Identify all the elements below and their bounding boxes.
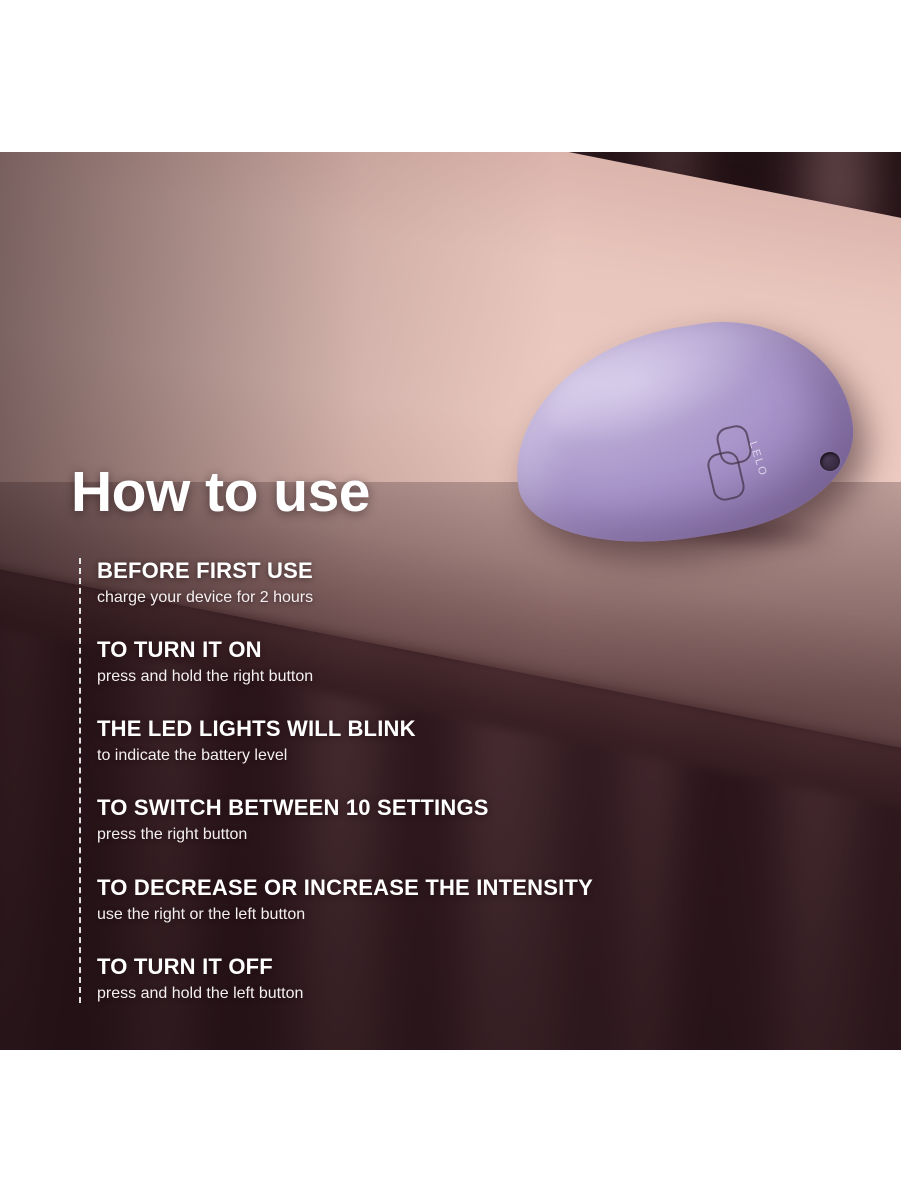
list-item: TO TURN IT OFF press and hold the left b… [97, 954, 857, 1003]
page-title: How to use [71, 464, 370, 521]
step-description: charge your device for 2 hours [97, 588, 857, 607]
product-device: LELO [504, 322, 860, 552]
list-item: THE LED LIGHTS WILL BLINK to indicate th… [97, 716, 857, 765]
list-item: TO SWITCH BETWEEN 10 SETTINGS press the … [97, 795, 857, 844]
step-title: TO DECREASE OR INCREASE THE INTENSITY [97, 875, 857, 901]
step-title: TO TURN IT OFF [97, 954, 857, 980]
step-description: press and hold the left button [97, 984, 857, 1003]
page-root: LELO How to use BEFORE FIRST USE charge … [0, 0, 901, 1200]
list-item: TO DECREASE OR INCREASE THE INTENSITY us… [97, 875, 857, 924]
step-description: use the right or the left button [97, 905, 857, 924]
step-description: press and hold the right button [97, 667, 857, 686]
step-title: TO SWITCH BETWEEN 10 SETTINGS [97, 795, 857, 821]
step-description: press the right button [97, 825, 857, 844]
steps-list: BEFORE FIRST USE charge your device for … [79, 558, 857, 1003]
list-item: BEFORE FIRST USE charge your device for … [97, 558, 857, 607]
step-title: BEFORE FIRST USE [97, 558, 857, 584]
list-item: TO TURN IT ON press and hold the right b… [97, 637, 857, 686]
step-description: to indicate the battery level [97, 746, 857, 765]
step-title: THE LED LIGHTS WILL BLINK [97, 716, 857, 742]
step-title: TO TURN IT ON [97, 637, 857, 663]
